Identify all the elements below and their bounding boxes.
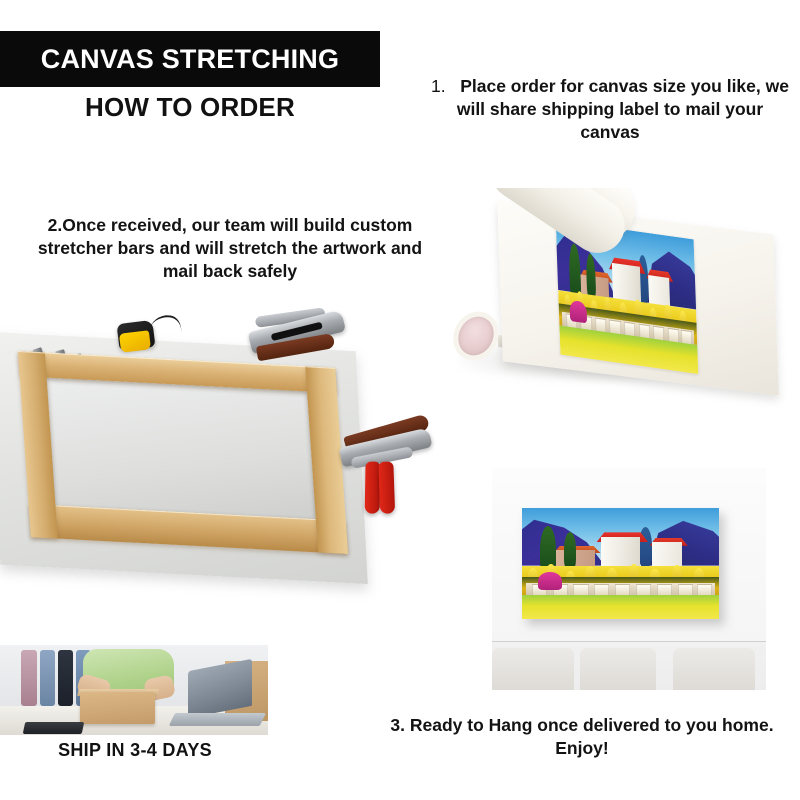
rolled-canvas-print-photo xyxy=(440,188,792,430)
step-1-number: 1. xyxy=(431,76,446,96)
hung-canvas-wall-photo xyxy=(492,468,766,690)
calculator xyxy=(23,722,84,734)
step-3-text: 3. Ready to Hang once delivered to you h… xyxy=(382,714,782,760)
banner-title: CANVAS STRETCHING xyxy=(41,44,339,75)
wall-floor-line xyxy=(492,641,766,642)
frame-inner-canvas xyxy=(47,378,316,520)
packing-shipping-photo xyxy=(0,645,268,735)
hung-artwork xyxy=(522,508,719,619)
tape-measure-yellow-case xyxy=(119,330,151,353)
ship-in-days-label: SHIP IN 3-4 DAYS xyxy=(0,740,270,761)
tape-measure-blade xyxy=(149,313,183,334)
staple-gun-red-grip-2 xyxy=(378,461,395,513)
sofa-center xyxy=(580,648,657,690)
sofa-left xyxy=(492,648,574,690)
cardboard-box xyxy=(80,692,155,724)
laptop-base xyxy=(168,713,265,726)
step-1-text: 1. Place order for canvas size you like,… xyxy=(430,75,790,143)
page-subtitle: HOW TO ORDER xyxy=(0,92,380,123)
wooden-stretcher-frame xyxy=(18,351,348,554)
staple-gun-red-icon xyxy=(330,410,440,546)
step-1-body: Place order for canvas size you like, we… xyxy=(457,76,789,142)
step-2-text: 2.Once received, our team will build cus… xyxy=(28,214,432,282)
title-banner: CANVAS STRETCHING xyxy=(0,31,380,87)
sofa-right xyxy=(673,648,755,690)
stretcher-frame-tools-photo xyxy=(0,300,440,620)
